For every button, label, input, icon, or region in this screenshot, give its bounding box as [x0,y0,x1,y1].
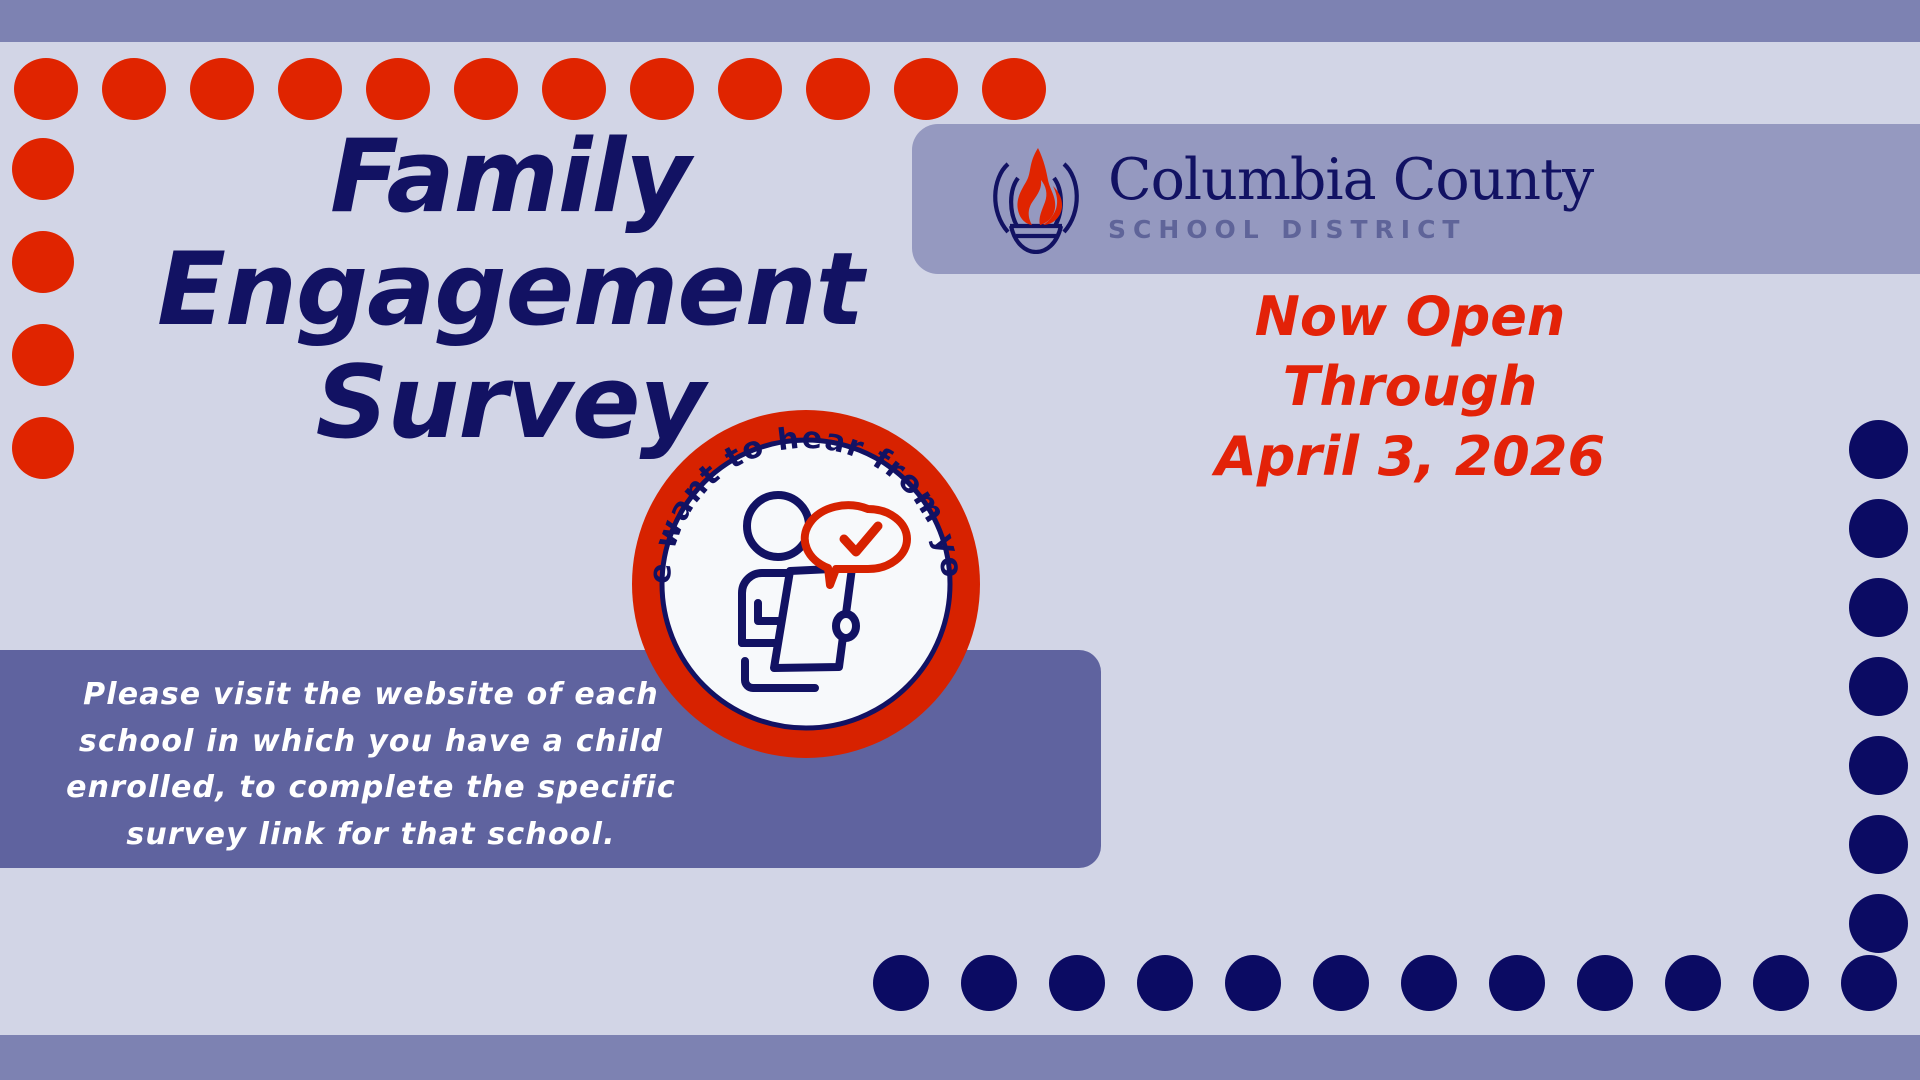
date-line-2: Through [1060,352,1760,422]
decorative-dot [366,58,430,120]
decorative-dot [278,58,342,120]
decorative-dot [12,231,74,293]
instructions-line-3: enrolled, to complete the specific [26,765,716,812]
decorative-dot [542,58,606,120]
decorative-dot [1577,955,1633,1011]
decorative-dot [961,955,1017,1011]
decorative-dot [1753,955,1809,1011]
bottom-band [0,1035,1920,1080]
decorative-dot [1049,955,1105,1011]
decorative-dot [1849,499,1908,558]
district-logo-wordmark: Columbia County SCHOOL DISTRICT [1108,152,1593,244]
decorative-dot [454,58,518,120]
decorative-dot [1849,657,1908,716]
decorative-dot [873,955,929,1011]
date-line-1: Now Open [1060,282,1760,352]
poster-canvas: Family Engagement Survey [0,0,1920,1080]
decorative-dot [190,58,254,120]
decorative-dot [14,58,78,120]
decorative-dot [1489,955,1545,1011]
district-subtitle: SCHOOL DISTRICT [1108,215,1593,244]
torch-flame-icon [982,142,1090,254]
decorative-dot [982,58,1046,120]
decorative-dot [12,324,74,386]
decorative-dot [1313,955,1369,1011]
decorative-dot [630,58,694,120]
date-notice: Now Open Through April 3, 2026 [1060,282,1760,493]
instructions-line-2: school in which you have a child [26,719,716,766]
decorative-dot [718,58,782,120]
decorative-dot [1849,815,1908,874]
instructions-line-4: survey link for that school. [26,812,716,859]
decorative-dot [1849,894,1908,953]
decorative-dot [102,58,166,120]
title-line-1: Family [70,120,950,233]
district-logo: Columbia County SCHOOL DISTRICT [982,142,1593,254]
decorative-dot [1225,955,1281,1011]
decorative-dot [894,58,958,120]
instructions-text: Please visit the website of each school … [26,672,716,858]
title-line-2: Engagement [70,233,950,346]
decorative-dot [12,417,74,479]
decorative-dot [1665,955,1721,1011]
decorative-dot [12,138,74,200]
district-logo-plate: Columbia County SCHOOL DISTRICT [912,124,1920,274]
decorative-dot [1849,420,1908,479]
decorative-dot [806,58,870,120]
decorative-dot [1401,955,1457,1011]
top-band [0,0,1920,42]
hear-from-you-badge: We want to hear from you! [630,408,982,760]
district-name: Columbia County [1108,152,1593,209]
decorative-dot [1849,578,1908,637]
decorative-dot [1137,955,1193,1011]
decorative-dot [1841,955,1897,1011]
instructions-line-1: Please visit the website of each [26,672,716,719]
date-line-3: April 3, 2026 [1060,422,1760,492]
decorative-dot [1849,736,1908,795]
